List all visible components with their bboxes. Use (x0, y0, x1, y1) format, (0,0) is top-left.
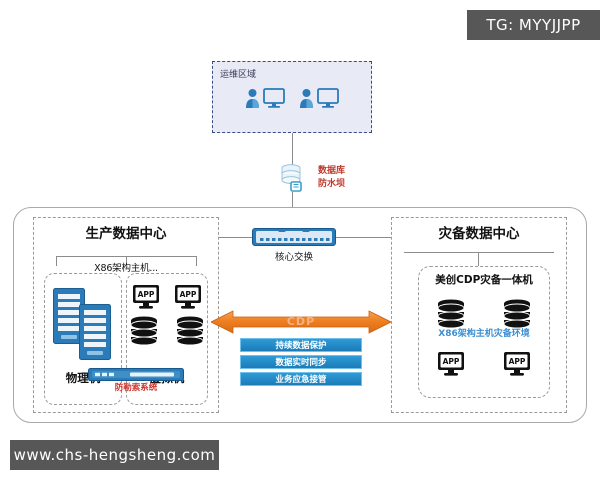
monitor-icon (263, 88, 285, 108)
database-stack-icon (502, 299, 532, 329)
core-switch-icon (252, 228, 336, 246)
dr-datacenter-title: 灾备数据中心 (391, 222, 567, 242)
ops-zone-label: 运维区域 (220, 67, 256, 80)
production-bracket-drop-right (196, 256, 197, 266)
svg-text:APP: APP (509, 357, 526, 366)
ops-zone-box: 运维区域 (212, 61, 372, 133)
server-tower-icon (79, 304, 111, 360)
dr-bracket-drop (478, 252, 479, 266)
dr-environment-label: X86架构主机灾备环境 (418, 326, 550, 339)
operator-person-icon (245, 88, 260, 108)
production-datacenter-title: 生产数据中心 (33, 222, 219, 242)
database-dam-label-line2: 防水坝 (318, 178, 345, 191)
connector-ops-to-db (292, 133, 293, 165)
watermark-badge-top: TG: MYYJJPP (467, 10, 600, 40)
dr-bracket (404, 252, 554, 253)
database-dam-icon (278, 163, 304, 193)
core-switch-label: 核心交换 (252, 249, 336, 263)
cdp-arrow-label: CDP (211, 315, 391, 328)
security-appliance-icon (88, 366, 184, 379)
database-stack-icon (129, 316, 159, 346)
database-stack-icon (175, 316, 205, 346)
operator-workstation-2 (299, 88, 339, 108)
cdp-feature-item: 业务应急接管 (240, 372, 362, 386)
operator-workstation-1 (245, 88, 285, 108)
database-stack-icon (436, 299, 466, 329)
monitor-icon (317, 88, 339, 108)
app-monitor-icon: APP (503, 351, 531, 377)
svg-text:APP: APP (443, 357, 460, 366)
svg-text:APP: APP (138, 290, 155, 299)
ops-zone-icon-group (213, 88, 371, 108)
production-host-label: X86架构主机... (56, 260, 196, 274)
svg-text:APP: APP (180, 290, 197, 299)
database-dam-label-line1: 数据库 (318, 165, 345, 178)
dr-app-row: APP APP (419, 351, 549, 377)
cdp-feature-item: 持续数据保护 (240, 338, 362, 352)
connector-switch-to-dr (336, 237, 391, 238)
app-monitor-icon: APP (174, 284, 202, 310)
database-dam-label: 数据库 防水坝 (318, 165, 345, 191)
virtual-db-row (127, 316, 207, 346)
app-monitor-icon: APP (132, 284, 160, 310)
diagram-canvas: TG: MYYJJPP 运维区域 (0, 0, 600, 480)
watermark-url-bottom: www.chs-hengsheng.com (10, 440, 219, 470)
app-monitor-icon: APP (437, 351, 465, 377)
virtual-app-row: APP APP (127, 284, 207, 310)
security-appliance-label: 防勒索系统 (88, 381, 184, 393)
connector-switch-to-production (219, 237, 252, 238)
cdp-appliance-title: 美创CDP灾备一体机 (418, 272, 550, 287)
dr-db-row (419, 299, 549, 329)
operator-person-icon (299, 88, 314, 108)
cdp-feature-item: 数据实时同步 (240, 355, 362, 369)
